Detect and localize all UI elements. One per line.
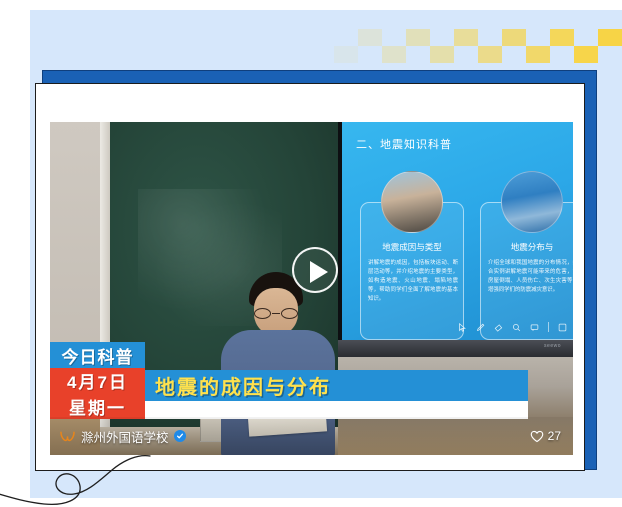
student-glasses <box>253 308 299 319</box>
checkerboard-decoration <box>262 29 622 64</box>
slide-photo-2 <box>501 171 563 233</box>
checker-square <box>574 46 598 63</box>
checker-square <box>478 46 502 63</box>
slide-photo-1 <box>381 171 443 233</box>
like-count: 27 <box>548 429 561 443</box>
more-icon[interactable] <box>558 323 567 332</box>
page-root: 二、地震知识科普 地震成因与类型 讲解地震的成因，包括板块运动、断层活动等，并介… <box>0 0 622 507</box>
date-badge: 4月7日 星期一 <box>50 368 145 419</box>
checker-square <box>334 46 358 63</box>
checker-square <box>382 46 406 63</box>
heart-icon[interactable] <box>530 430 544 443</box>
play-triangle-icon <box>310 261 328 283</box>
slide-card-2-title: 地震分布与 <box>481 241 573 253</box>
eraser-icon[interactable] <box>494 323 503 332</box>
checker-square <box>598 29 622 46</box>
slide-card-2-body: 介绍全球和我国地震的分布情况，结合实例讲解地震可能带来的危害，如房屋倒塌、人员伤… <box>488 259 573 295</box>
checker-square <box>526 46 550 63</box>
presentation-screen: 二、地震知识科普 地震成因与类型 讲解地震的成因，包括板块运动、断层活动等，并介… <box>342 122 573 340</box>
checker-square <box>406 29 430 46</box>
checker-square <box>358 29 382 46</box>
video-player[interactable]: 二、地震知识科普 地震成因与类型 讲解地震的成因，包括板块运动、断层活动等，并介… <box>50 122 573 455</box>
date-line-2: 星期一 <box>69 394 126 419</box>
checker-square <box>454 29 478 46</box>
swirl-decoration <box>0 448 152 507</box>
checker-square <box>550 29 574 46</box>
toolbar-divider <box>548 322 549 332</box>
video-title: 地震的成因与分布 <box>155 371 331 400</box>
device-logo: seewo <box>544 343 561 349</box>
video-card: 二、地震知识科普 地震成因与类型 讲解地震的成因，包括板块运动、断层活动等，并介… <box>35 83 585 471</box>
like-control[interactable]: 27 <box>530 429 561 443</box>
channel-name[interactable]: 滁州外国语学校 <box>81 427 169 446</box>
date-line-1: 4月7日 <box>67 368 128 393</box>
magnifier-icon[interactable] <box>512 323 521 332</box>
slide-heading: 二、地震知识科普 <box>356 136 452 152</box>
pen-icon[interactable] <box>476 323 485 332</box>
verified-badge-icon <box>174 430 186 442</box>
screen-bezel-bottom: seewo <box>338 340 573 357</box>
slide-card-1-title: 地震成因与类型 <box>361 241 463 253</box>
category-badge-label: 今日科普 <box>62 343 134 368</box>
shape-icon[interactable] <box>530 323 539 332</box>
slide-card-1-body: 讲解地震的成因，包括板块运动、断层活动等，并介绍地震的主要类型，如构造地震、火山… <box>368 259 458 304</box>
checker-square <box>502 29 526 46</box>
cursor-icon[interactable] <box>458 323 467 332</box>
video-title-bar: 地震的成因与分布 <box>145 370 528 401</box>
wechat-channels-icon <box>59 428 75 444</box>
checker-square <box>430 46 454 63</box>
whiteboard-toolbar[interactable] <box>454 320 571 334</box>
category-badge: 今日科普 <box>50 342 145 368</box>
slide-card-1: 地震成因与类型 讲解地震的成因，包括板块运动、断层活动等，并介绍地震的主要类型，… <box>360 202 464 340</box>
play-button[interactable] <box>292 247 338 293</box>
